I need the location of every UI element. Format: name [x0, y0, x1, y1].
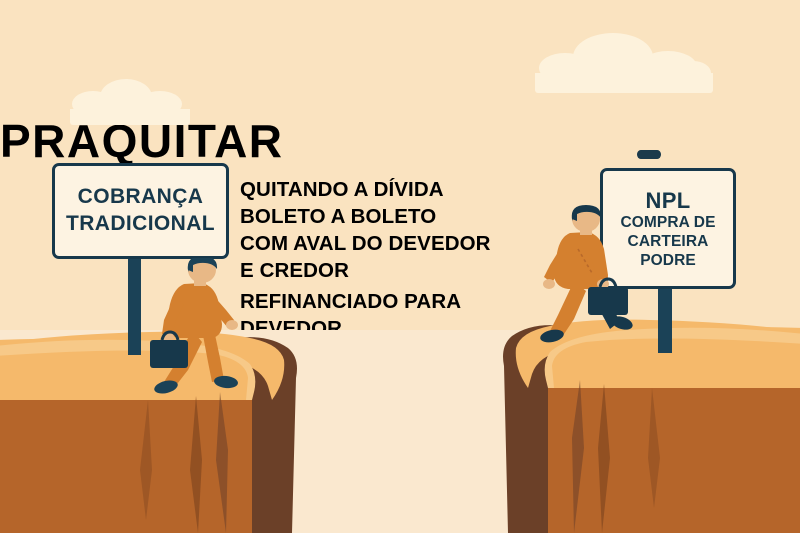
sign-right-heading: NPL	[646, 188, 691, 213]
businessman-left	[140, 258, 250, 398]
illustration-canvas: COBRANÇA TRADICIONAL NPL COMPRA DE CARTE…	[0, 0, 800, 533]
sign-left-line-2: TRADICIONAL	[66, 211, 215, 238]
sign-post-right	[658, 285, 672, 353]
businessman-right	[530, 205, 640, 350]
sign-right-line-3: PODRE	[640, 252, 696, 271]
sign-cobranca-tradicional[interactable]: COBRANÇA TRADICIONAL	[52, 163, 229, 259]
sign-cap-icon	[637, 150, 661, 159]
sign-left-line-1: COBRANÇA	[78, 184, 204, 211]
